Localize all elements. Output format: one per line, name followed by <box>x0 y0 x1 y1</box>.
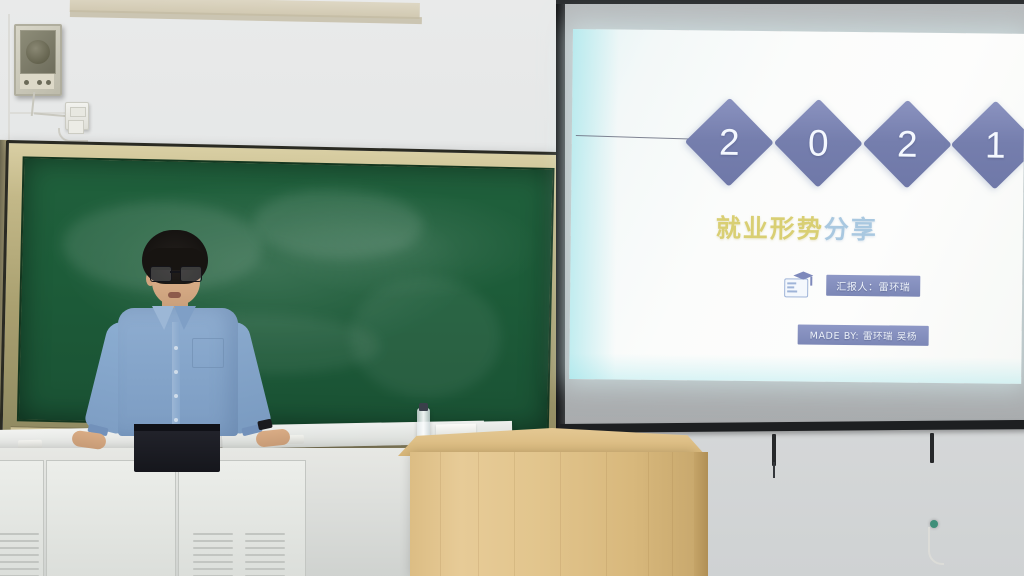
year-digit-0: 2 <box>685 98 774 187</box>
slide-edge-glow <box>569 29 619 379</box>
made-by-row: MADE BY: 雷环瑞 吴杨 <box>798 324 930 345</box>
presenter <box>100 230 300 460</box>
lectern-side-panel <box>694 452 708 576</box>
projected-slide: 2 0 2 1 就业形势分享 汇报人：雷环瑞 MADE BY: 雷环瑞 吴杨 <box>569 29 1024 384</box>
screen-clip-left-string <box>773 462 775 478</box>
year-digit-2: 2 <box>863 100 952 189</box>
wooden-lectern <box>410 452 694 576</box>
speaker-cone-icon <box>26 40 50 64</box>
presenter-row: 汇报人：雷环瑞 <box>784 271 920 298</box>
classroom-presentation-photo: 2 0 2 1 就业形势分享 汇报人：雷环瑞 MADE BY: 雷环瑞 吴杨 <box>0 0 1024 576</box>
belt <box>134 424 220 431</box>
slide-title-part2: 分享 <box>824 215 878 245</box>
year-digit-label: 1 <box>963 113 1024 177</box>
slide-title: 就业形势分享 <box>571 207 1023 248</box>
water-bottle-cap <box>419 403 428 411</box>
year-digit-label: 2 <box>875 112 939 176</box>
shirt-pocket <box>192 338 224 368</box>
cabinet-door-3[interactable] <box>178 460 306 576</box>
year-diamonds: 2 0 2 1 <box>697 94 1024 194</box>
cabinet-door-2[interactable] <box>46 460 176 576</box>
year-digit-label: 0 <box>786 111 850 175</box>
mouth <box>168 292 181 298</box>
power-cord <box>58 128 88 142</box>
slide-bottom-glow <box>569 353 1021 384</box>
screen-left-frame <box>556 0 565 432</box>
year-digit-label: 2 <box>697 110 761 174</box>
presenter-pill: 汇报人：雷环瑞 <box>826 274 920 296</box>
slide-title-part1: 就业形势 <box>716 214 824 244</box>
speaker-control-panel[interactable] <box>20 74 54 89</box>
speaker-grill-icon <box>20 30 56 74</box>
shirt-placket <box>172 322 180 430</box>
year-digit-1: 0 <box>774 99 863 188</box>
trousers <box>134 426 220 472</box>
made-by-pill: MADE BY: 雷环瑞 吴杨 <box>798 324 930 345</box>
cabinet-door-1[interactable] <box>0 460 44 576</box>
screen-top-bar <box>556 0 1024 4</box>
screen-clip-right <box>930 433 934 463</box>
wall-hook-wire <box>928 527 944 565</box>
year-digit-3: 1 <box>951 101 1024 190</box>
wall-speaker <box>14 24 62 96</box>
graduation-cap-screen-icon <box>784 271 814 297</box>
glasses-icon <box>150 266 202 281</box>
